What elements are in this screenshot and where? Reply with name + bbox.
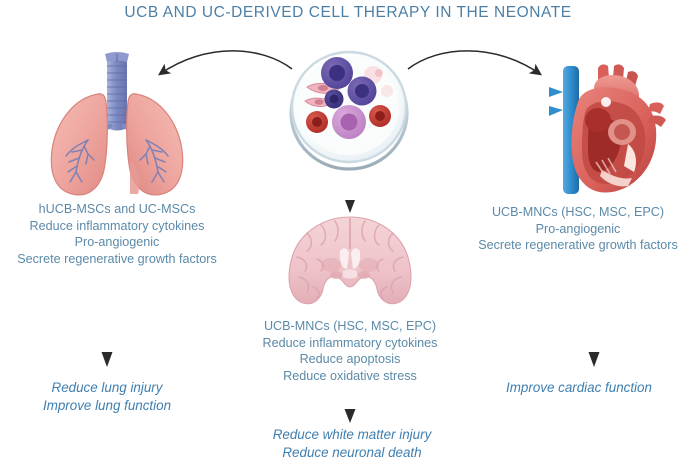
brain-therapy-line-1: UCB-MNCs (HSC, MSC, EPC)	[228, 318, 472, 335]
petri-dish	[283, 43, 415, 180]
arrow-brain-to-outcome	[345, 389, 356, 423]
diagram-canvas: UCB AND UC-DERIVED CELL THERAPY IN THE N…	[0, 0, 696, 468]
brain-therapy-line-4: Reduce oxidative stress	[228, 368, 472, 385]
lung-therapy-text: hUCB-MSCs and UC-MSCs Reduce inflammator…	[0, 201, 238, 267]
lung-therapy-line-2: Reduce inflammatory cytokines	[0, 218, 238, 235]
lung-therapy-line-4: Secrete regenerative growth factors	[0, 251, 238, 268]
lung-therapy-line-1: hUCB-MSCs and UC-MSCs	[0, 201, 238, 218]
arrow-lung-to-outcome	[102, 285, 113, 367]
brain-outcome-line-2: Reduce neuronal death	[228, 444, 476, 462]
page-title: UCB AND UC-DERIVED CELL THERAPY IN THE N…	[0, 4, 696, 22]
brain-outcome-line-1: Reduce white matter injury	[228, 426, 476, 444]
heart-outcome-text: Improve cardiac function	[462, 379, 696, 397]
lung-outcome-line-2: Improve lung function	[0, 397, 214, 415]
heart-illustration	[538, 58, 678, 205]
lung-outcome-text: Reduce lung injury Improve lung function	[0, 379, 214, 415]
brain-outcome-text: Reduce white matter injury Reduce neuron…	[228, 426, 476, 462]
lung-outcome-line-1: Reduce lung injury	[0, 379, 214, 397]
heart-therapy-text: UCB-MNCs (HSC, MSC, EPC) Pro-angiogenic …	[456, 204, 696, 254]
brain-therapy-line-2: Reduce inflammatory cytokines	[228, 335, 472, 352]
heart-therapy-line-3: Secrete regenerative growth factors	[456, 237, 696, 254]
arrow-heart-to-outcome	[589, 285, 600, 367]
lung-therapy-line-3: Pro-angiogenic	[0, 234, 238, 251]
heart-outcome-line-1: Improve cardiac function	[462, 379, 696, 397]
lungs-illustration	[38, 52, 196, 205]
arrow-dish-to-heart	[408, 51, 540, 74]
brain-illustration	[283, 213, 417, 318]
heart-therapy-line-1: UCB-MNCs (HSC, MSC, EPC)	[456, 204, 696, 221]
brain-therapy-line-3: Reduce apoptosis	[228, 351, 472, 368]
right-atrium	[585, 108, 611, 132]
brain-therapy-text: UCB-MNCs (HSC, MSC, EPC) Reduce inflamma…	[228, 318, 472, 384]
heart-therapy-line-2: Pro-angiogenic	[456, 221, 696, 238]
